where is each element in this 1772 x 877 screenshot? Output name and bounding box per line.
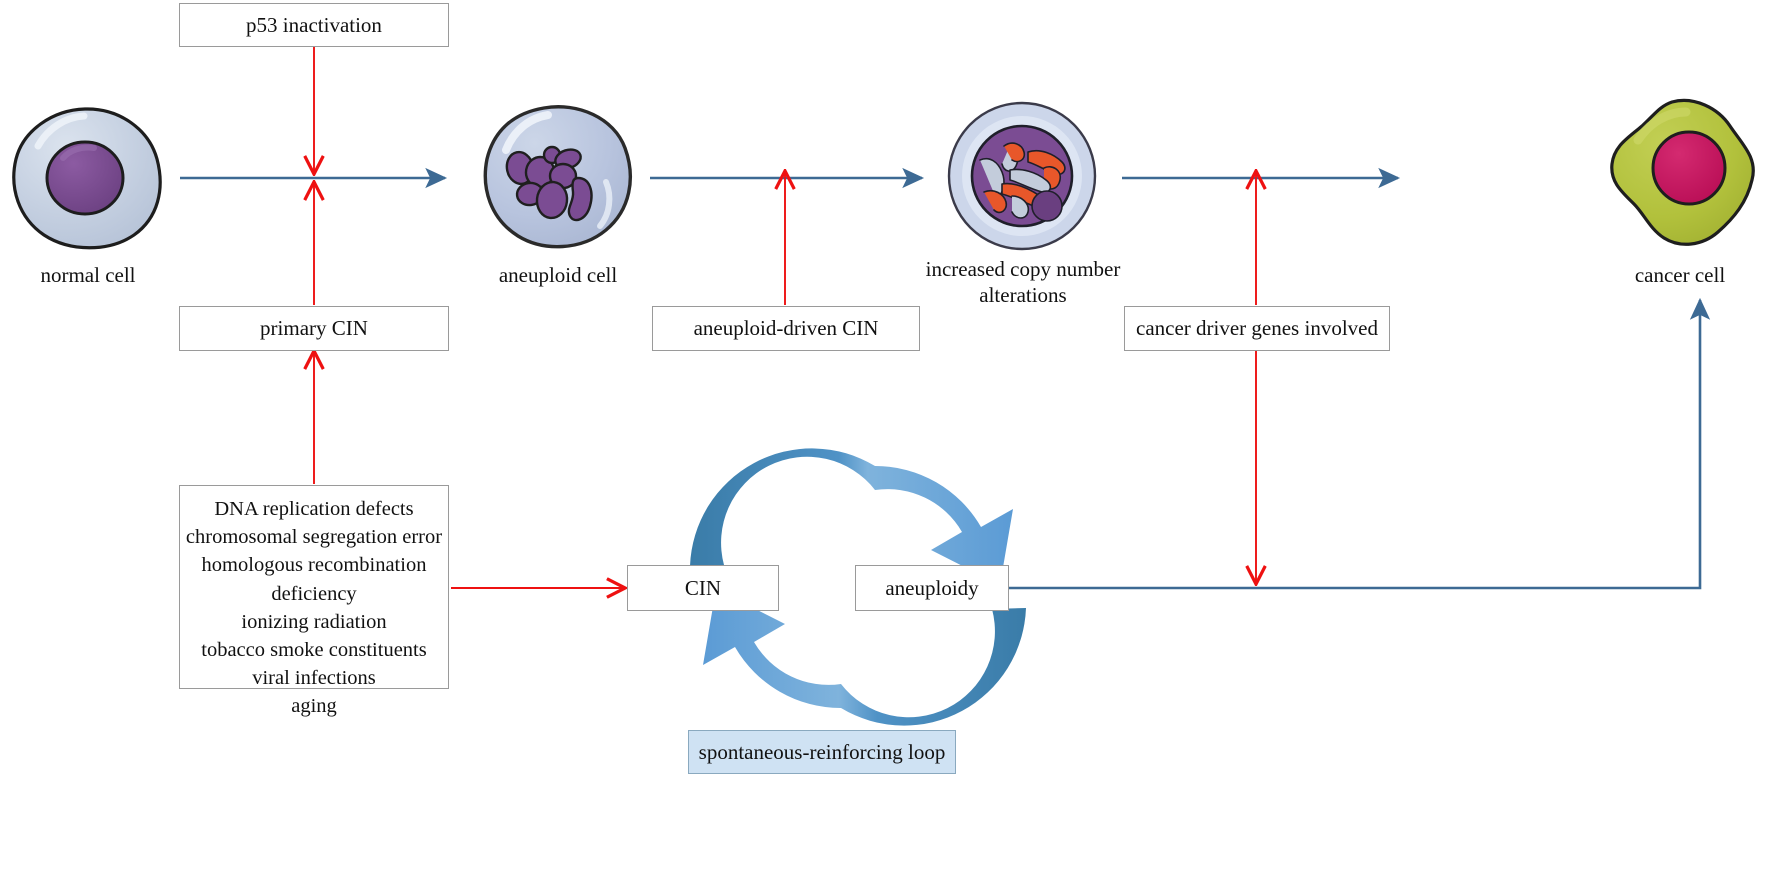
aneuploidy-box[interactable]: aneuploidy (855, 565, 1009, 611)
p53-inactivation-label: p53 inactivation (246, 14, 382, 37)
cause-item: homologous recombination (180, 551, 448, 579)
copy-number-label-line2: alterations (979, 283, 1066, 307)
cin-box[interactable]: CIN (627, 565, 779, 611)
aneuploid-cell-label: aneuploid cell (478, 262, 638, 288)
spontaneous-reinforcing-loop-label: spontaneous-reinforcing loop (699, 741, 946, 764)
cancer-driver-genes-box[interactable]: cancer driver genes involved (1124, 306, 1390, 351)
cancer-cell-label: cancer cell (1600, 262, 1760, 288)
increased-copy-number-cell-illustration (946, 100, 1098, 252)
normal-cell-label: normal cell (8, 262, 168, 288)
p53-inactivation-box[interactable]: p53 inactivation (179, 3, 449, 47)
cin-label: CIN (685, 577, 721, 600)
spontaneous-reinforcing-loop-box[interactable]: spontaneous-reinforcing loop (688, 730, 956, 774)
increased-copy-number-cell-label: increased copy number alterations (925, 256, 1121, 309)
cancer-cell-illustration (1602, 96, 1760, 254)
aneuploid-driven-cin-label: aneuploid-driven CIN (694, 317, 879, 340)
diagram-canvas: normal cell aneuploid cell (0, 0, 1772, 877)
cause-item: deficiency (180, 580, 448, 608)
copy-number-label-line1: increased copy number (926, 257, 1121, 281)
aneuploidy-label: aneuploidy (885, 577, 978, 600)
primary-cin-label: primary CIN (260, 317, 368, 340)
cause-item: viral infections (180, 664, 448, 692)
aneuploid-driven-cin-box[interactable]: aneuploid-driven CIN (652, 306, 920, 351)
cause-item: aging (180, 692, 448, 720)
cancer-driver-genes-label: cancer driver genes involved (1136, 317, 1378, 340)
aneuploid-cell-illustration (478, 104, 638, 252)
normal-cell-illustration (8, 106, 168, 251)
causes-box[interactable]: DNA replication defects chromosomal segr… (179, 485, 449, 689)
primary-cin-box[interactable]: primary CIN (179, 306, 449, 351)
cause-item: ionizing radiation (180, 608, 448, 636)
cause-item: chromosomal segregation error (180, 523, 448, 551)
cause-item: DNA replication defects (180, 495, 448, 523)
cause-item: tobacco smoke constituents (180, 636, 448, 664)
